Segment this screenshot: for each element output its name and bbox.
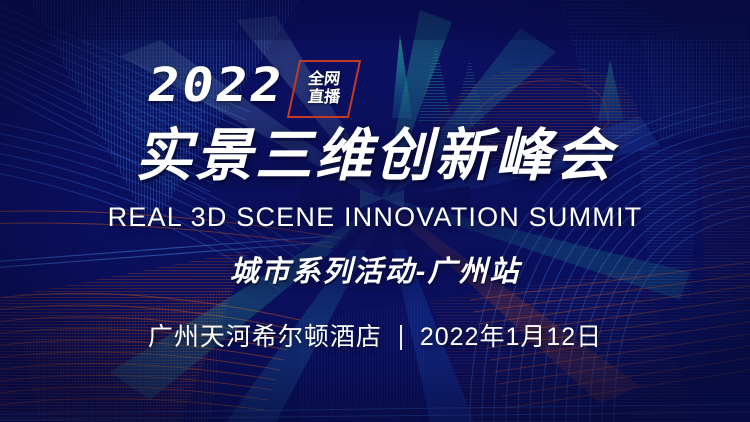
poster-content: 2022 全网 直播 实景三维创新峰会 REAL 3D SCENE INNOVA… xyxy=(0,0,750,422)
venue-label: 广州天河希尔顿酒店 xyxy=(148,325,382,350)
subtitle-chinese: 城市系列活动-广州站 xyxy=(0,258,750,287)
badge-line-2: 直播 xyxy=(307,90,341,107)
main-title-chinese: 实景三维创新峰会 xyxy=(0,128,750,185)
footer-separator xyxy=(400,325,402,350)
year-row: 2022 全网 直播 xyxy=(148,62,355,118)
year-label: 2022 xyxy=(144,62,287,109)
event-poster: 2022 全网 直播 实景三维创新峰会 REAL 3D SCENE INNOVA… xyxy=(0,0,750,422)
badge-text: 全网 直播 xyxy=(293,60,355,118)
main-title-english: REAL 3D SCENE INNOVATION SUMMIT xyxy=(0,204,750,231)
badge-line-1: 全网 xyxy=(307,72,341,89)
livestream-badge: 全网 直播 xyxy=(293,60,355,118)
footer-info: 广州天河希尔顿酒店 2022年1月12日 xyxy=(0,325,750,350)
date-label: 2022年1月12日 xyxy=(420,325,602,350)
